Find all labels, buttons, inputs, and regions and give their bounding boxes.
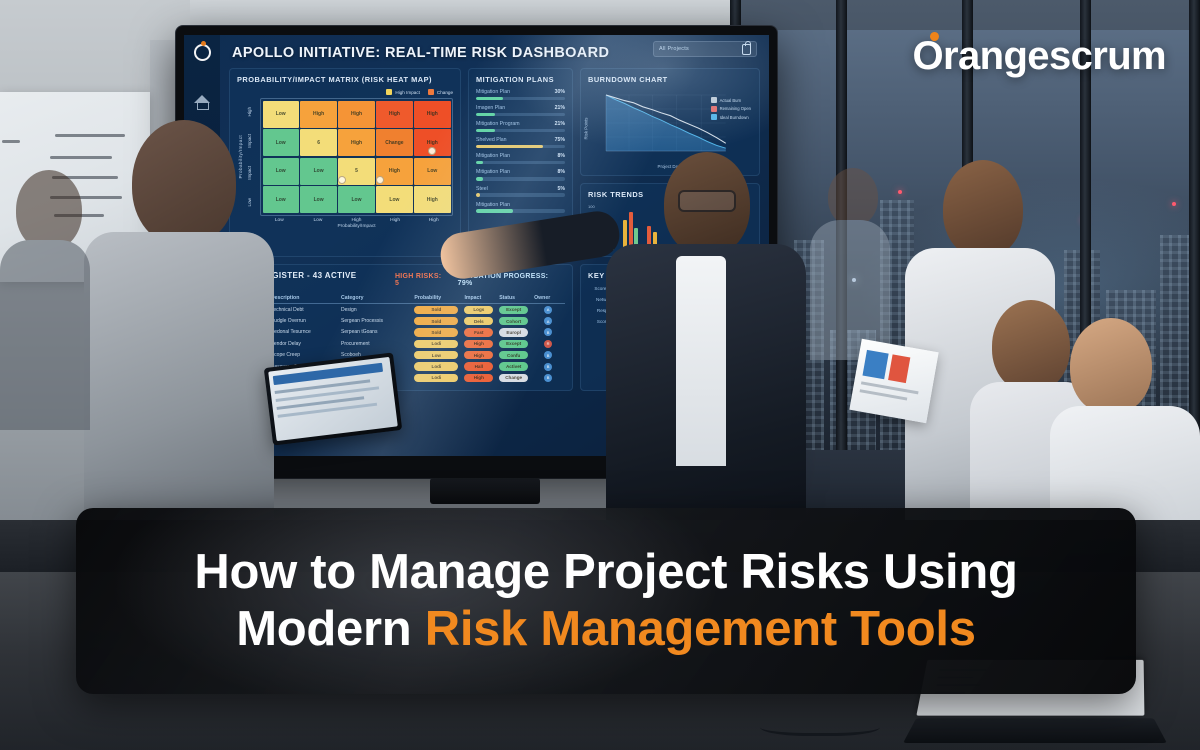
brand-name: Orangescrum: [913, 34, 1167, 78]
cell-description: Budgle Overrun: [268, 315, 338, 326]
mitigation-row[interactable]: Mitigation Program21%: [476, 121, 565, 132]
heatmap-cell[interactable]: 6: [300, 129, 336, 156]
cell-impact: Dels: [461, 315, 496, 326]
progress-fill: [476, 129, 495, 133]
legend-label: Actual Burn: [720, 98, 742, 103]
cell-probability: Sold: [411, 327, 461, 338]
laptop-keyboard[interactable]: [903, 718, 1167, 743]
cell-description: Vendor Delay: [268, 338, 338, 349]
cell-owner: R: [531, 338, 565, 349]
cell-owner: B: [531, 361, 565, 372]
progress-track: [476, 145, 565, 149]
status-badge: High: [464, 340, 493, 348]
cell-status: Europl: [496, 327, 531, 338]
mitigation-title: MITIGATION PLANS: [476, 75, 565, 84]
cell-owner: A: [531, 315, 565, 326]
cell-category: Serpean tGoans: [338, 327, 411, 338]
x-tick: High: [376, 218, 415, 223]
legend-item-change: Change: [428, 89, 453, 95]
person-presenter-left: [84, 120, 274, 550]
cell-status: Confu: [496, 350, 531, 361]
mitigation-name: Shelved Plan: [476, 137, 507, 143]
mitigation-name: Mitigation Plan: [476, 169, 510, 175]
logo-icon: [194, 44, 211, 61]
progress-fill: [476, 113, 495, 117]
status-badge: Sold: [414, 306, 458, 314]
mitigation-name: Mitigation Plan: [476, 153, 510, 159]
mitigation-row[interactable]: Mitigation Plan8%: [476, 153, 565, 164]
progress-fill: [476, 145, 543, 149]
person-background-left: [0, 170, 90, 430]
banner-line-1: How to Manage Project Risks Using: [194, 545, 1017, 600]
status-badge: Fast: [464, 328, 493, 336]
mitigation-percent: 30%: [555, 89, 565, 95]
progress-track: [476, 97, 565, 101]
avatar[interactable]: B: [544, 363, 552, 371]
avatar[interactable]: A: [544, 317, 552, 325]
heatmap-cell[interactable]: High: [376, 101, 412, 128]
status-badge: Europl: [499, 328, 528, 336]
burndown-y-label: Risk Points: [584, 118, 589, 140]
cell-impact: Fast: [461, 327, 496, 338]
heatmap-cell[interactable]: Change: [376, 129, 412, 156]
cell-owner: B: [531, 327, 565, 338]
table-column-header[interactable]: Probability: [411, 293, 461, 304]
heatmap-cell[interactable]: High: [338, 101, 374, 128]
banner-line-2-white: Modern: [236, 602, 424, 656]
table-column-header[interactable]: Description: [268, 293, 338, 304]
legend-label: Ideal Burndown: [720, 115, 749, 120]
mitigation-percent: 21%: [555, 121, 565, 127]
status-badge: Confu: [499, 351, 528, 359]
cell-status: Change: [496, 372, 531, 383]
heatmap-title: PROBABILITY/IMPACT MATRIX (RISK HEAT MAP…: [237, 75, 453, 84]
lock-icon: [742, 44, 751, 55]
person-background-window: [810, 168, 890, 358]
status-badge: Logs: [464, 306, 493, 314]
cell-description: Scope Creep: [268, 350, 338, 361]
cell-description: Technical Debt: [268, 304, 338, 316]
project-filter-bar[interactable]: All Projects: [653, 41, 757, 57]
cell-owner: A: [531, 304, 565, 316]
risk-node-marker[interactable]: [428, 147, 436, 155]
y-tick: High: [247, 107, 259, 116]
status-badge: Low: [414, 351, 458, 359]
table-column-header[interactable]: Category: [338, 293, 411, 304]
cell-probability: Lodi: [411, 338, 461, 349]
cell-probability: Sold: [411, 304, 461, 316]
banner-line-2-accent: Risk Management Tools: [425, 602, 976, 656]
title-banner: How to Manage Project Risks Using Modern…: [76, 508, 1136, 694]
display-stand: [430, 478, 540, 504]
heatmap-x-ticks: Low Low High High High: [260, 218, 453, 223]
cell-status: Activet: [496, 361, 531, 372]
legend-item: Ideal Burndown: [711, 114, 751, 120]
x-tick: Low: [299, 218, 338, 223]
status-badge: Change: [499, 374, 528, 382]
risk-node-marker[interactable]: [338, 176, 346, 184]
printed-report: [849, 339, 938, 423]
heatmap-cell[interactable]: Low: [376, 186, 412, 213]
table-column-header[interactable]: Owner: [531, 293, 565, 304]
status-badge: Lodi: [414, 374, 458, 382]
risk-node-marker[interactable]: [376, 176, 384, 184]
cell-status: Except: [496, 338, 531, 349]
progress-fill: [476, 97, 503, 101]
progress-fill: [476, 161, 483, 165]
cell-owner: B: [531, 372, 565, 383]
mitigation-percent: 8%: [558, 169, 566, 175]
legend-swatch: [386, 89, 392, 95]
avatar[interactable]: R: [544, 340, 552, 348]
avatar[interactable]: B: [544, 351, 552, 359]
table-row[interactable]: R-15ATechnical DebtDesignSoldLogsExceptA: [237, 304, 565, 316]
cell-probability: Low: [411, 350, 461, 361]
project-filter-label: All Projects: [659, 46, 689, 52]
cell-category: Sergean Processis: [338, 315, 411, 326]
legend-swatch: [428, 89, 434, 95]
tablet-device[interactable]: [264, 352, 403, 445]
legend-item: Remaining Open: [711, 106, 751, 112]
mitigation-percent: 75%: [555, 137, 565, 143]
cell-probability: Sold: [411, 315, 461, 326]
mitigation-percent: 21%: [555, 105, 565, 111]
table-row[interactable]: R-214Vendor DelayProcurementLodiHighExce…: [237, 338, 565, 349]
cell-description: Sedonal Tesurnce: [268, 327, 338, 338]
status-badge: Cohort: [499, 317, 528, 325]
heatmap-cell[interactable]: High: [338, 129, 374, 156]
status-badge: Dels: [464, 317, 493, 325]
cell-impact: Hall: [461, 361, 496, 372]
mitigation-name: Imagen Plan: [476, 105, 505, 111]
cell-category: Design: [338, 304, 411, 316]
cell-impact: High: [461, 372, 496, 383]
legend-label: High Impact: [395, 90, 420, 95]
person-arm-pointing: [440, 178, 620, 288]
mitigation-row[interactable]: Imagen Plan21%: [476, 105, 565, 116]
table-column-header[interactable]: Status: [496, 293, 531, 304]
mitigation-row[interactable]: Mitigation Plan30%: [476, 89, 565, 100]
status-badge: Except: [499, 340, 528, 348]
progress-track: [476, 129, 565, 133]
status-badge: High: [464, 351, 493, 359]
table-column-header[interactable]: Impact: [461, 293, 496, 304]
heatmap-legend: High Impact Change: [237, 89, 453, 95]
heatmap-cell[interactable]: Low: [338, 186, 374, 213]
heatmap-x-axis-label: Probability/Impact: [260, 224, 453, 229]
avatar[interactable]: B: [544, 328, 552, 336]
scene: All Projects APOLLO INITIATIVE: REAL-TIM…: [0, 0, 1200, 750]
status-badge: Except: [499, 306, 528, 314]
status-badge: Lodi: [414, 340, 458, 348]
table-row[interactable]: R-20SBudgle OverrunSergean ProcessisSold…: [237, 315, 565, 326]
avatar[interactable]: B: [544, 374, 552, 382]
heatmap-cell[interactable]: Low: [300, 158, 336, 185]
heatmap-grid[interactable]: LowHighHighHighHighLow6HighChangeHighLow…: [260, 98, 453, 216]
cell-impact: High: [461, 338, 496, 349]
status-badge: Hall: [464, 362, 493, 370]
avatar[interactable]: A: [544, 306, 552, 314]
brand-logo: Orangescrum: [913, 34, 1167, 79]
burndown-legend: Actual Burn Remaining Open Ideal Burndow…: [711, 97, 751, 123]
table-header-row: IDDescriptionCategoryProbabilityImpactSt…: [237, 293, 565, 304]
table-row[interactable]: R-308Scope CreepScoboehLowHighConfuB: [237, 350, 565, 361]
status-badge: Lodi: [414, 362, 458, 370]
table-row[interactable]: R-100Sedonal TesurnceSerpean tGoansSoldF…: [237, 327, 565, 338]
heatmap-cell[interactable]: Low: [300, 186, 336, 213]
cell-impact: High: [461, 350, 496, 361]
person-presenter-center: [592, 152, 812, 552]
cell-category: Procurement: [338, 338, 411, 349]
cell-impact: Logs: [461, 304, 496, 316]
progress-track: [476, 161, 565, 165]
mitigation-row[interactable]: Shelved Plan75%: [476, 137, 565, 148]
progress-track: [476, 113, 565, 117]
x-tick: High: [337, 218, 376, 223]
status-badge: Sold: [414, 328, 458, 336]
status-badge: High: [464, 374, 493, 382]
home-icon[interactable]: [194, 95, 210, 103]
cell-status: Except: [496, 304, 531, 316]
heatmap-cell[interactable]: High: [414, 101, 450, 128]
legend-item: Actual Burn: [711, 97, 751, 103]
status-badge: Activet: [499, 362, 528, 370]
cable: [760, 714, 880, 736]
burndown-title: BURNDOWN CHART: [588, 75, 752, 84]
legend-item-high-impact: High Impact: [386, 89, 420, 95]
legend-label: Remaining Open: [720, 106, 751, 111]
legend-label: Change: [437, 90, 453, 95]
cell-probability: Lodi: [411, 372, 461, 383]
banner-line-2: Modern Risk Management Tools: [236, 602, 975, 657]
cell-owner: B: [531, 350, 565, 361]
mitigation-percent: 8%: [558, 153, 566, 159]
heatmap-cell[interactable]: High: [300, 101, 336, 128]
legend-swatch: [711, 106, 717, 112]
status-badge: Sold: [414, 317, 458, 325]
mitigation-name: Mitigation Program: [476, 121, 520, 127]
legend-swatch: [711, 114, 717, 120]
legend-swatch: [711, 97, 717, 103]
cell-status: Cohort: [496, 315, 531, 326]
cell-probability: Lodi: [411, 361, 461, 372]
mitigation-name: Mitigation Plan: [476, 89, 510, 95]
